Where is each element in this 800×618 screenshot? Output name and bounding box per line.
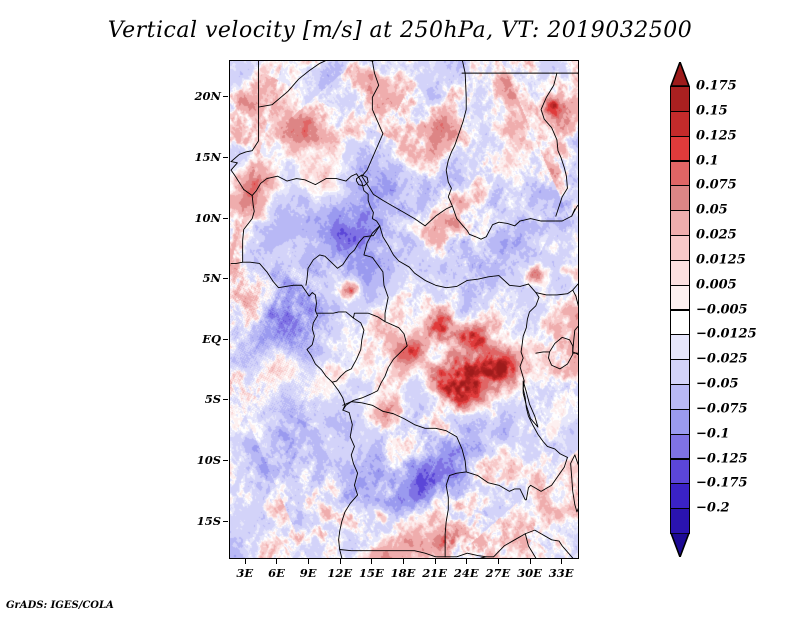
grads-attribution: GrADS: IGES/COLA (6, 600, 114, 611)
y-tick (223, 157, 228, 158)
colorbar-band (670, 86, 690, 112)
page-title: Vertical velocity [m/s] at 250hPa, VT: 2… (0, 18, 800, 43)
colorbar-band (670, 310, 690, 336)
x-tick (371, 559, 372, 564)
colorbar-band (670, 459, 690, 485)
colorbar-tick-label: −0.0125 (696, 327, 757, 342)
colorbar-tick-label: 0.005 (696, 277, 737, 292)
x-tick (340, 559, 341, 564)
colorbar-tick-label: 0.0125 (696, 252, 746, 267)
colorbar-band (670, 483, 690, 509)
x-tick (403, 559, 404, 564)
x-axis-label: 21E (422, 566, 447, 580)
y-axis-label: 15S (181, 514, 221, 528)
colorbar-tick-label: −0.2 (696, 501, 730, 516)
x-tick (561, 559, 562, 564)
y-axis-label: 10S (181, 453, 221, 467)
x-axis-label: 18E (391, 566, 416, 580)
colorbar-band (670, 260, 690, 286)
x-axis-label: 6E (268, 566, 285, 580)
colorbar-arrow-bottom (670, 533, 690, 557)
colorbar-tick-label: −0.175 (696, 476, 748, 491)
colorbar-tick-label: −0.05 (696, 377, 739, 392)
colorbar-tick-label: −0.1 (696, 426, 730, 441)
colorbar-tick-label: 0.025 (696, 228, 737, 243)
colorbar-tick-label: 0.15 (696, 103, 728, 118)
x-axis-label: 30E (517, 566, 542, 580)
colorbar-band (670, 334, 690, 360)
x-axis-label: 24E (454, 566, 479, 580)
colorbar-tick-label: −0.005 (696, 302, 748, 317)
x-tick (530, 559, 531, 564)
y-axis-label: EQ (181, 332, 221, 346)
colorbar-band (670, 359, 690, 385)
colorbar (670, 62, 690, 557)
colorbar-tick-label: 0.1 (696, 153, 719, 168)
x-axis-label: 27E (486, 566, 511, 580)
colorbar-band (670, 210, 690, 236)
x-tick (308, 559, 309, 564)
y-tick (223, 96, 228, 97)
colorbar-band (670, 384, 690, 410)
colorbar-tick-label: 0.075 (696, 178, 737, 193)
colorbar-band (670, 185, 690, 211)
colorbar-tick-label: −0.075 (696, 401, 748, 416)
y-tick (223, 521, 228, 522)
vertical-velocity-field (230, 61, 578, 558)
y-axis-label: 5S (181, 392, 221, 406)
colorbar-tick-label: −0.025 (696, 352, 748, 367)
x-tick (245, 559, 246, 564)
y-tick (223, 460, 228, 461)
colorbar-band (670, 235, 690, 261)
map-plot-area (229, 60, 579, 559)
x-tick (466, 559, 467, 564)
y-tick (223, 339, 228, 340)
y-tick (223, 218, 228, 219)
y-tick (223, 399, 228, 400)
x-axis-label: 3E (236, 566, 253, 580)
x-axis-label: 33E (549, 566, 574, 580)
colorbar-band (670, 111, 690, 137)
y-axis-label: 20N (181, 89, 221, 103)
y-tick (223, 278, 228, 279)
y-axis-label: 10N (181, 211, 221, 225)
colorbar-arrow-top (670, 62, 690, 86)
colorbar-band (670, 508, 690, 534)
y-axis-label: 15N (181, 150, 221, 164)
colorbar-tick-label: −0.125 (696, 451, 748, 466)
colorbar-band (670, 409, 690, 435)
colorbar-tick-label: 0.175 (696, 79, 737, 94)
colorbar-tick-label: 0.125 (696, 128, 737, 143)
colorbar-band (670, 161, 690, 187)
colorbar-band (670, 434, 690, 460)
x-tick (498, 559, 499, 564)
x-tick (435, 559, 436, 564)
colorbar-band (670, 285, 690, 311)
colorbar-tick-label: 0.05 (696, 203, 728, 218)
x-axis-label: 12E (327, 566, 352, 580)
x-axis-label: 9E (300, 566, 317, 580)
x-axis-label: 15E (359, 566, 384, 580)
colorbar-band (670, 136, 690, 162)
y-axis-label: 5N (181, 271, 221, 285)
x-tick (276, 559, 277, 564)
